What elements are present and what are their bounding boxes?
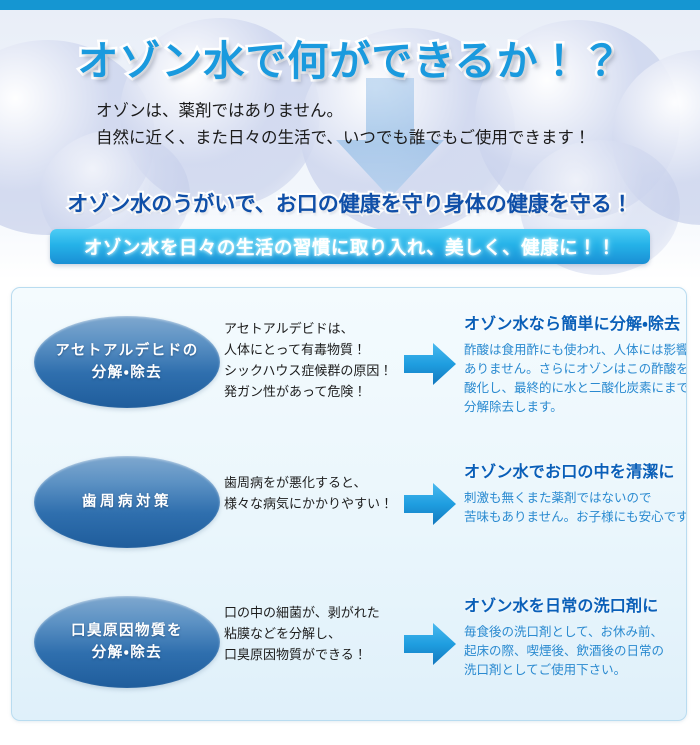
result-line: ありません。さらにオゾンはこの酢酸を bbox=[464, 360, 684, 379]
result-title: オゾン水でお口の中を清潔に bbox=[464, 458, 684, 482]
hero-lead-text: オゾンは、薬剤ではありません。 自然に近く、また日々の生活で、いつでも誰でもご使… bbox=[96, 98, 656, 152]
description-line: 人体にとって有毒物質！ bbox=[224, 339, 404, 360]
right-arrow-icon bbox=[404, 483, 456, 525]
benefit-row: アセトアルデヒドの 分解・除去 アセトアルデビドは、 人体にとって有毒物質！ シ… bbox=[12, 296, 687, 436]
sub-headline: オゾン水のうがいで、お口の健康を守り身体の健康を守る！ bbox=[0, 188, 700, 218]
benefit-result: オゾン水なら簡単に分解・除去 酢酸は食用酢にも使われ、人体には影響 ありません。… bbox=[464, 310, 684, 417]
description-line: 発ガン性があって危険！ bbox=[224, 381, 404, 402]
benefit-badge: 口臭原因物質を 分解・除去 bbox=[34, 596, 220, 688]
badge-line: 口臭原因物質を bbox=[71, 620, 183, 642]
result-line: 分解除去します。 bbox=[464, 398, 684, 417]
hero-lead-line: 自然に近く、また日々の生活で、いつでも誰でもご使用できます！ bbox=[96, 125, 656, 152]
result-body: 刺激も無くまた薬剤ではないので 苦味もありません。お子様にも安心です。 bbox=[464, 489, 684, 527]
benefit-description: アセトアルデビドは、 人体にとって有毒物質！ シックハウス症候群の原因！ 発ガン… bbox=[224, 318, 404, 402]
result-line: 酸化し、最終的に水と二酸化炭素にまで bbox=[464, 379, 684, 398]
benefits-panel: アセトアルデヒドの 分解・除去 アセトアルデビドは、 人体にとって有毒物質！ シ… bbox=[11, 287, 687, 721]
benefit-description: 歯周病をが悪化すると、 様々な病気にかかりやすい！ bbox=[224, 472, 404, 514]
badge-line: アセトアルデヒドの bbox=[55, 340, 199, 362]
benefit-result: オゾン水を日常の洗口剤に 毎食後の洗口剤として、お休み前、 起床の際、喫煙後、飲… bbox=[464, 592, 684, 680]
badge-line: 分解・除去 bbox=[92, 642, 162, 664]
ribbon-text: オゾン水を日々の生活の習慣に取り入れ、美しく、健康に！！ bbox=[84, 234, 616, 260]
right-arrow-icon bbox=[404, 343, 456, 385]
benefit-row: 口臭原因物質を 分解・除去 口の中の細菌が、剥がれた 粘膜などを分解し、 口臭原… bbox=[12, 576, 687, 716]
result-line: 苦味もありません。お子様にも安心です。 bbox=[464, 508, 684, 527]
benefit-badge: 歯周病対策 bbox=[34, 456, 220, 548]
result-line: 酢酸は食用酢にも使われ、人体には影響 bbox=[464, 341, 684, 360]
description-line: 口臭原因物質ができる！ bbox=[224, 644, 404, 665]
result-line: 洗口剤としてご使用下さい。 bbox=[464, 661, 684, 680]
description-line: アセトアルデビドは、 bbox=[224, 318, 404, 339]
benefit-description: 口の中の細菌が、剥がれた 粘膜などを分解し、 口臭原因物質ができる！ bbox=[224, 602, 404, 665]
result-line: 起床の際、喫煙後、飲酒後の日常の bbox=[464, 642, 684, 661]
result-line: 毎食後の洗口剤として、お休み前、 bbox=[464, 623, 684, 642]
ribbon-banner: オゾン水を日々の生活の習慣に取り入れ、美しく、健康に！！ bbox=[50, 229, 650, 264]
page-title: オゾン水で何ができるか！？ bbox=[0, 27, 700, 87]
hero-lead-line: オゾンは、薬剤ではありません。 bbox=[96, 98, 656, 125]
benefit-result: オゾン水でお口の中を清潔に 刺激も無くまた薬剤ではないので 苦味もありません。お… bbox=[464, 458, 684, 527]
badge-line: 歯周病対策 bbox=[82, 491, 172, 513]
top-accent-bar bbox=[0, 0, 700, 10]
result-title: オゾン水なら簡単に分解・除去 bbox=[464, 310, 684, 334]
result-line: 刺激も無くまた薬剤ではないので bbox=[464, 489, 684, 508]
benefit-badge: アセトアルデヒドの 分解・除去 bbox=[34, 316, 220, 408]
description-line: 粘膜などを分解し、 bbox=[224, 623, 404, 644]
result-body: 酢酸は食用酢にも使われ、人体には影響 ありません。さらにオゾンはこの酢酸を 酸化… bbox=[464, 341, 684, 417]
description-line: シックハウス症候群の原因！ bbox=[224, 360, 404, 381]
right-arrow-icon bbox=[404, 623, 456, 665]
benefit-row: 歯周病対策 歯周病をが悪化すると、 様々な病気にかかりやすい！ オゾン水でお口の… bbox=[12, 436, 687, 576]
result-title: オゾン水を日常の洗口剤に bbox=[464, 592, 684, 616]
description-line: 口の中の細菌が、剥がれた bbox=[224, 602, 404, 623]
description-line: 歯周病をが悪化すると、 bbox=[224, 472, 404, 493]
badge-line: 分解・除去 bbox=[92, 362, 162, 384]
result-body: 毎食後の洗口剤として、お休み前、 起床の際、喫煙後、飲酒後の日常の 洗口剤として… bbox=[464, 623, 684, 680]
description-line: 様々な病気にかかりやすい！ bbox=[224, 493, 404, 514]
